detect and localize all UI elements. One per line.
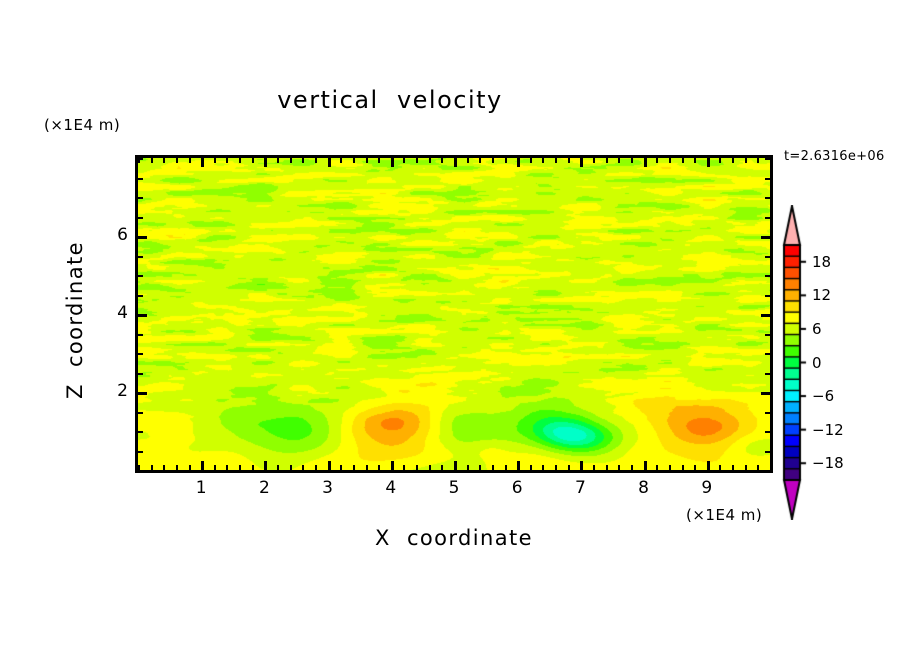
- z-axis-title: Z coordinate: [63, 220, 87, 420]
- x-tick-label: 2: [249, 478, 279, 498]
- contour-plot-figure: vertical velocity (×1E4 m) (×1E4 m) t=2.…: [0, 0, 904, 654]
- x-tick-label: 9: [692, 478, 722, 498]
- x-tick-label: 8: [629, 478, 659, 498]
- x-tick-label: 3: [313, 478, 343, 498]
- x-tick-label: 5: [439, 478, 469, 498]
- contour-field: [138, 158, 770, 470]
- y-axis-unit-label: (×1E4 m): [44, 116, 120, 134]
- time-annotation: t=2.6316e+06: [784, 149, 885, 164]
- y-tick-label: 2: [98, 381, 128, 401]
- plot-area: [135, 155, 773, 473]
- x-tick-label: 6: [502, 478, 532, 498]
- x-tick-label: 7: [565, 478, 595, 498]
- colorbar: [778, 205, 824, 520]
- colorbar-gradient: [778, 205, 824, 520]
- y-tick-label: 6: [98, 225, 128, 245]
- x-axis-unit-label: (×1E4 m): [686, 506, 762, 524]
- x-tick-label: 4: [376, 478, 406, 498]
- y-tick-label: 4: [98, 303, 128, 323]
- x-tick-label: 1: [186, 478, 216, 498]
- page-title: vertical velocity: [0, 86, 780, 114]
- x-axis-title: X coordinate: [135, 526, 773, 550]
